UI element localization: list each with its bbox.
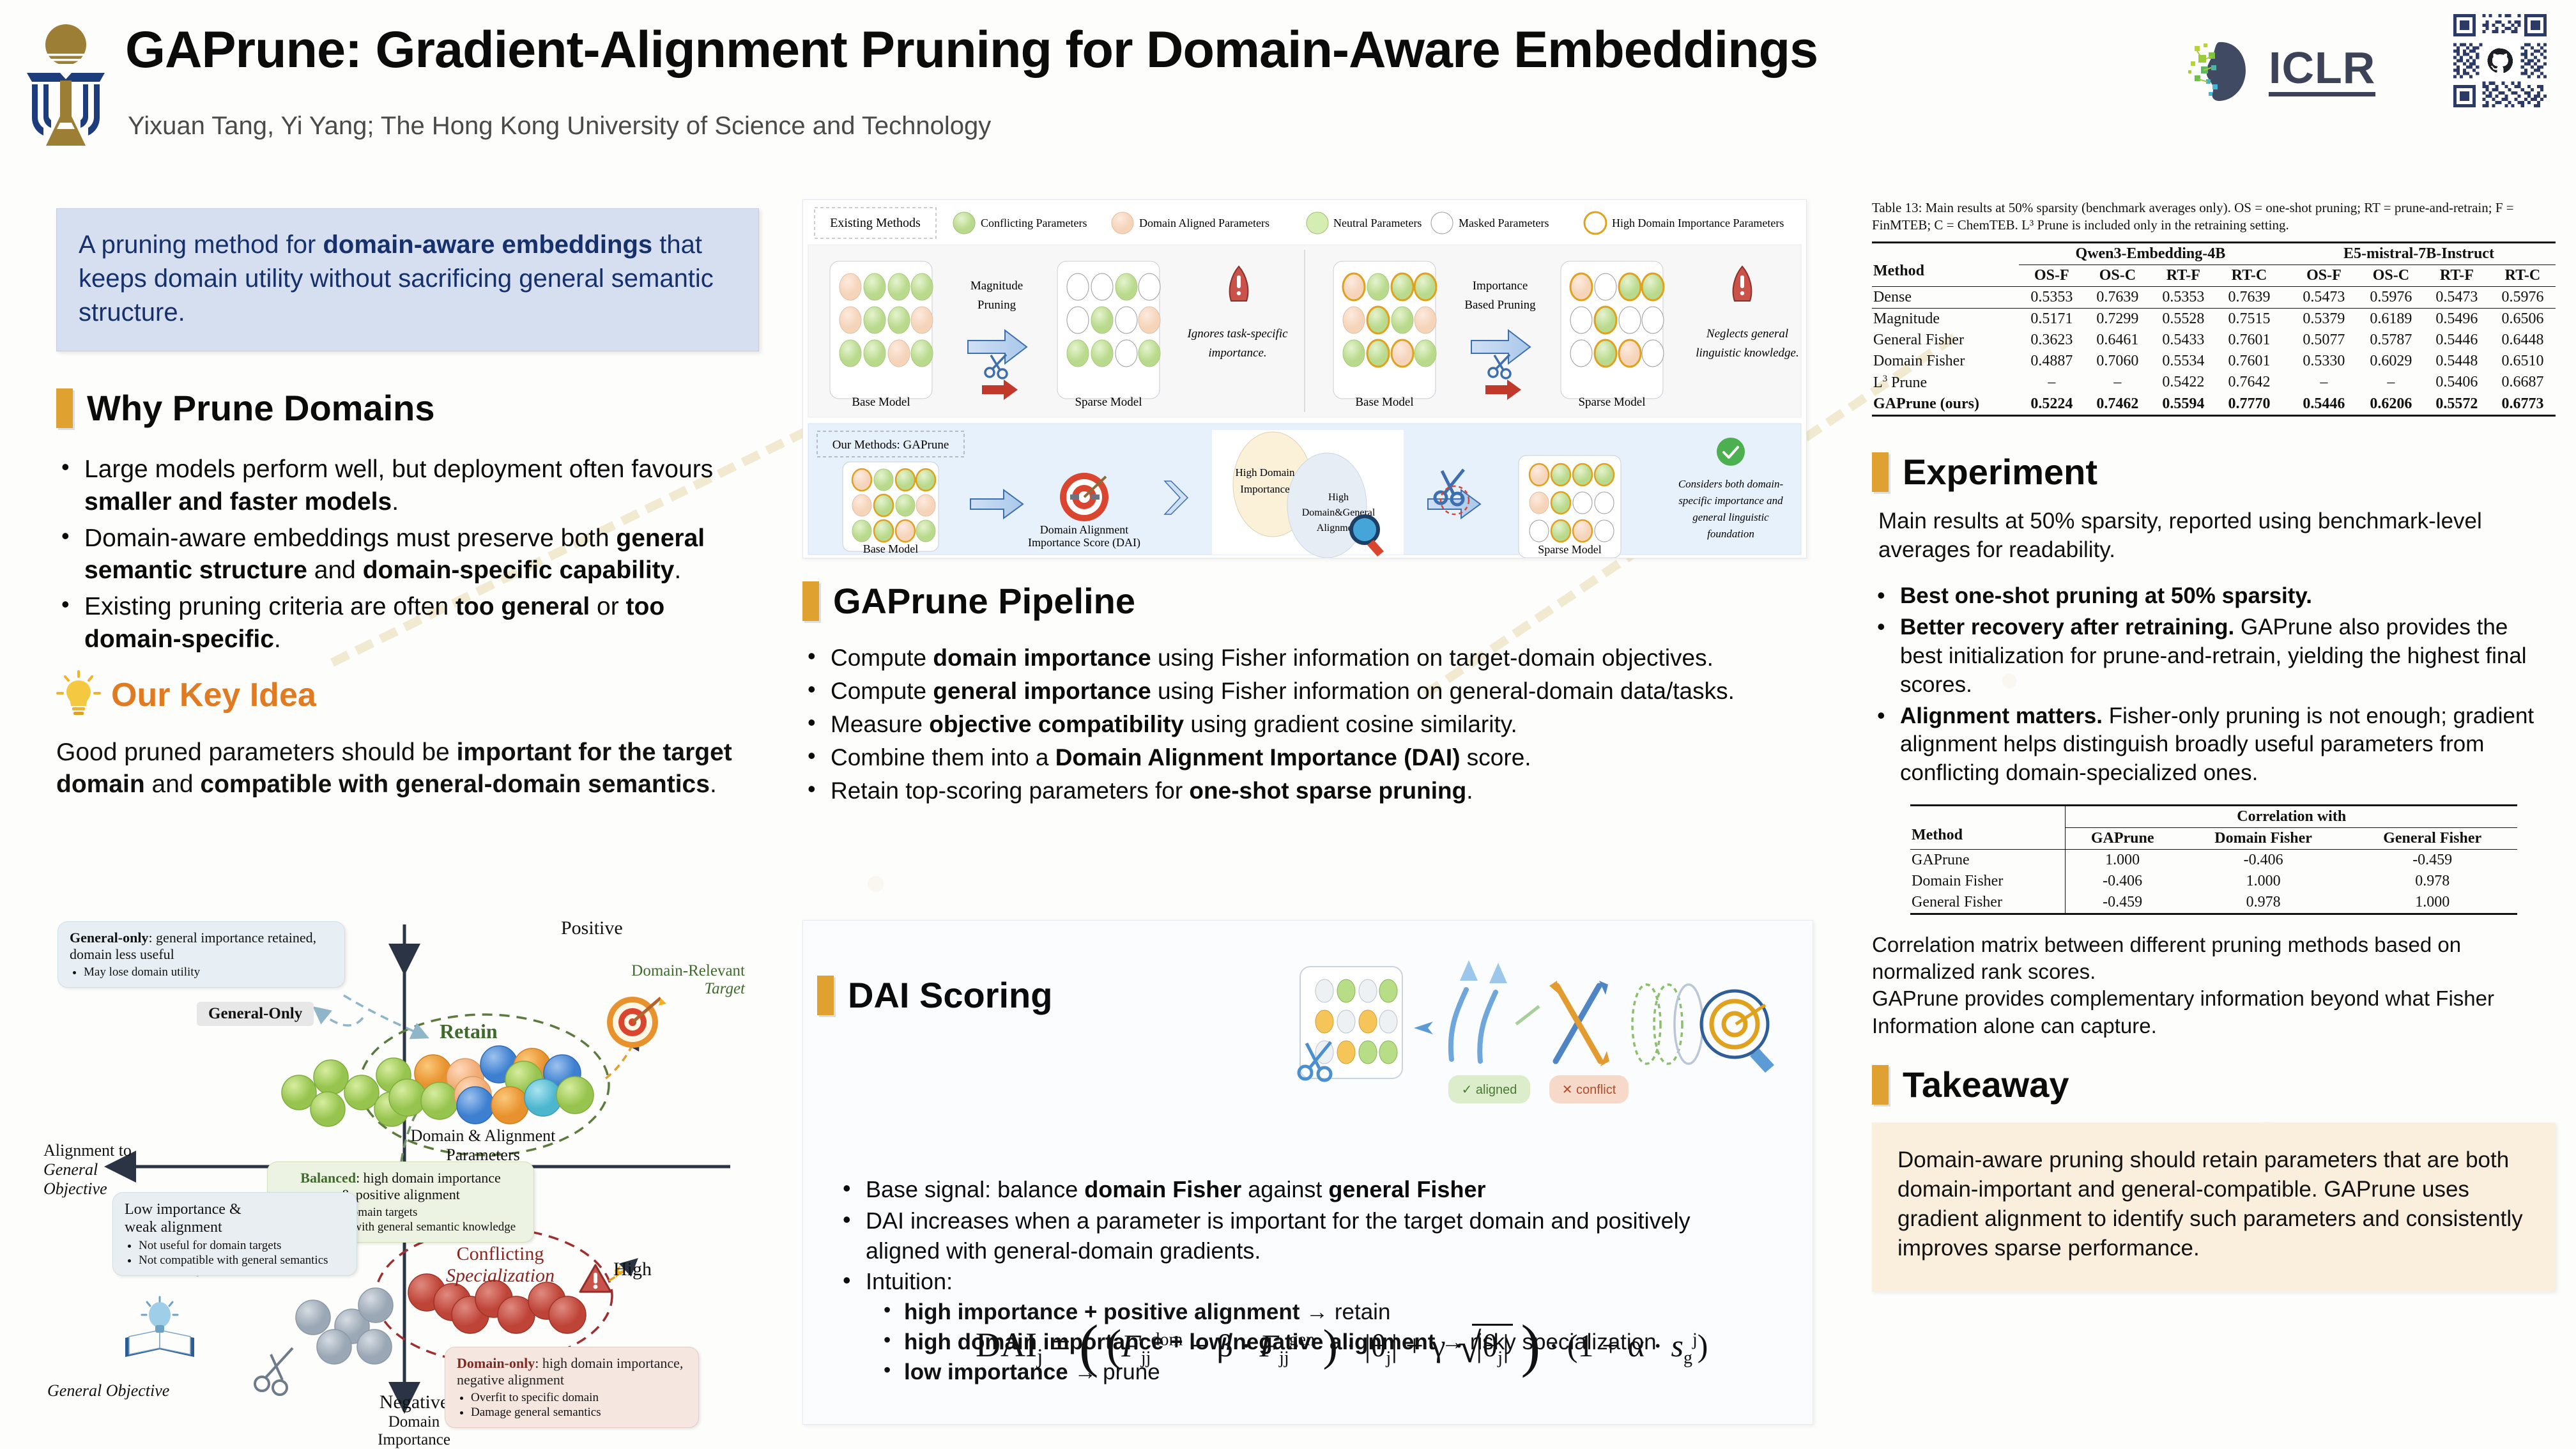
svg-text:✕ conflict: ✕ conflict: [1562, 1083, 1616, 1097]
list-item: Measure objective compatibility using gr…: [802, 709, 1825, 740]
table13-col-1: OS-C: [2085, 264, 2150, 286]
chip-general-only: General-Only: [197, 1002, 314, 1026]
row-method: GAPrune: [1910, 849, 2066, 871]
takeaway-callout: Domain-aware pruning should retain param…: [1872, 1123, 2556, 1292]
center-column: GAPrune Pipeline Compute domain importan…: [802, 581, 1825, 809]
svg-text:Based Pruning: Based Pruning: [1464, 298, 1536, 312]
table13-col-6: RT-F: [2424, 264, 2490, 286]
cell-value: 0.5496: [2424, 308, 2490, 330]
list-item: Overfit to specific domain: [471, 1390, 687, 1405]
domain-only-title: Domain-only: [457, 1355, 535, 1371]
row-method: Magnitude: [1872, 308, 2019, 330]
cell-value: 0.7299: [2085, 308, 2150, 330]
domain-relevant-1: Domain-Relevant: [611, 962, 745, 980]
section-title-takeaway: Takeaway: [1903, 1067, 2069, 1103]
corr-col-1: Domain Fisher: [2179, 827, 2348, 849]
table-row: General Fisher-0.4590.9781.000: [1910, 892, 2517, 914]
accent-bar-icon: [1872, 452, 1889, 492]
cell-value: 0.5077: [2282, 330, 2358, 351]
cell-value: 0.5473: [2282, 286, 2358, 308]
abstract-callout: A pruning method for domain-aware embedd…: [56, 208, 759, 351]
section-head-key-idea: Our Key Idea: [56, 670, 759, 720]
low-title-2: weak alignment: [125, 1218, 345, 1236]
why-prune-bullets: Large models perform well, but deploymen…: [56, 454, 759, 655]
svg-text:importance.: importance.: [1208, 346, 1266, 360]
cell-value: –: [2019, 372, 2085, 394]
cell-value: 0.6448: [2490, 330, 2556, 351]
poster-header: GAPrune: Gradient-Alignment Pruning for …: [0, 0, 2576, 172]
hkust-logo: [18, 14, 114, 151]
cell-value: 0.5422: [2150, 372, 2216, 394]
section-head-why-prune: Why Prune Domains: [56, 388, 759, 428]
cell-value: 0.5353: [2019, 286, 2085, 308]
table13-col-2: RT-F: [2150, 264, 2216, 286]
dai-scoring-card: DAI Scoring ✓ ali: [802, 920, 1813, 1425]
cell-value: 0.5224: [2019, 394, 2085, 416]
abstract-bold: domain-aware embeddings: [323, 231, 652, 259]
lightbulb-icon: [56, 670, 101, 720]
list-item: Intuition:: [838, 1267, 1770, 1297]
cell-value: 0.7060: [2085, 351, 2150, 372]
left-column: A pruning method for domain-aware embedd…: [56, 208, 759, 801]
table-row: General Fisher0.36230.64610.54330.76010.…: [1872, 330, 2556, 351]
dai-formula: DAIj = ( (Fjjdom − β · Fjjgen ) · |θj| +…: [976, 1312, 1708, 1379]
table13-col-5: OS-C: [2358, 264, 2424, 286]
quadrant-box-domain-only: Domain-only: high domain importance, neg…: [445, 1347, 699, 1428]
svg-text:Importance: Importance: [1240, 483, 1289, 495]
dai-illustration-icon: ✓ aligned ✕ conflict: [1289, 947, 1774, 1139]
svg-text:Considers both domain-: Considers both domain-: [1678, 478, 1784, 490]
experiment-bullets: Best one-shot pruning at 50% sparsity.Be…: [1872, 582, 2556, 788]
cell-value: 0.7601: [2216, 330, 2282, 351]
cell-value: -0.459: [2066, 892, 2179, 914]
quadrant-box-general-only: General-only: general importance retaine…: [57, 921, 345, 988]
svg-text:Neutral Parameters: Neutral Parameters: [1333, 217, 1422, 229]
list-item: Damage general semantics: [471, 1405, 687, 1420]
cell-value: 0.5473: [2424, 286, 2490, 308]
svg-text:Existing Methods: Existing Methods: [830, 216, 921, 230]
svg-text:specific importance and: specific importance and: [1678, 494, 1783, 507]
cell-value: 0.978: [2179, 892, 2348, 914]
quadrant-figure: General-only: general importance retaine…: [43, 906, 759, 1436]
cell-value: 0.5330: [2282, 351, 2358, 372]
page-title: GAPrune: Gradient-Alignment Pruning for …: [125, 24, 1818, 76]
cell-value: 0.7770: [2216, 394, 2282, 416]
corr-span-header: Correlation with: [2066, 805, 2517, 827]
cell-value: -0.406: [2179, 849, 2348, 871]
cell-value: 0.5379: [2282, 308, 2358, 330]
cell-value: 0.5787: [2358, 330, 2424, 351]
balanced-title: Balanced: [300, 1170, 356, 1186]
row-method: Domain Fisher: [1872, 351, 2019, 372]
axis-label-positive: Positive: [561, 917, 623, 939]
cell-value: 0.6206: [2358, 394, 2424, 416]
iclr-wordmark: ICLR: [2269, 47, 2375, 96]
domain-relevant-2: Target: [611, 980, 745, 998]
cell-value: 0.7642: [2216, 372, 2282, 394]
svg-text:Domain Alignment: Domain Alignment: [1040, 523, 1129, 536]
methods-figure-svg: Existing Methods Conflicting Parameters …: [803, 200, 1806, 558]
row-method: GAPrune (ours): [1872, 394, 2019, 416]
table13-group-2: E5-mistral-7B-Instruct: [2282, 242, 2556, 264]
table13-col-4: OS-F: [2282, 264, 2358, 286]
list-item: Combine them into a Domain Alignment Imp…: [802, 742, 1825, 773]
cell-value: 0.5446: [2424, 330, 2490, 351]
label-conflicting: Conflicting Specialization: [420, 1243, 580, 1287]
experiment-intro: Main results at 50% sparsity, reported u…: [1872, 507, 2556, 565]
list-item: Compute domain importance using Fisher i…: [802, 643, 1825, 673]
corr-body: GAPrune1.000-0.406-0.459Domain Fisher-0.…: [1910, 849, 2517, 914]
cell-value: 0.6506: [2490, 308, 2556, 330]
svg-text:Base Model: Base Model: [863, 542, 918, 555]
svg-text:Our Methods: GAPrune: Our Methods: GAPrune: [832, 438, 949, 452]
cell-value: 0.5353: [2150, 286, 2216, 308]
svg-text:Base Model: Base Model: [852, 395, 910, 409]
label-domain-relevant-target: Domain-Relevant Target: [611, 962, 745, 998]
cell-value: 0.6029: [2358, 351, 2424, 372]
cell-value: 0.5446: [2282, 394, 2358, 416]
svg-text:linguistic knowledge.: linguistic knowledge.: [1696, 346, 1798, 360]
svg-text:Conflicting Parameters: Conflicting Parameters: [981, 217, 1087, 229]
iclr-logo: ICLR: [2182, 37, 2375, 106]
row-method: Dense: [1872, 286, 2019, 308]
cell-value: 0.5976: [2358, 286, 2424, 308]
authors-affiliation: Yixuan Tang, Yi Yang; The Hong Kong Univ…: [128, 112, 991, 141]
list-item: Large models perform well, but deploymen…: [56, 454, 759, 518]
cell-value: 0.7639: [2216, 286, 2282, 308]
label-retain-sub: Domain & Alignment Parameters: [406, 1126, 560, 1165]
cell-value: –: [2358, 372, 2424, 394]
table13-col-7: RT-C: [2490, 264, 2556, 286]
table13-group-1: Qwen3-Embedding-4B: [2019, 242, 2282, 264]
svg-text:general linguistic: general linguistic: [1692, 511, 1769, 523]
svg-text:Sparse Model: Sparse Model: [1075, 395, 1142, 409]
cell-value: 0.5433: [2150, 330, 2216, 351]
cell-value: 0.5572: [2424, 394, 2490, 416]
list-item: Better recovery after retraining. GAPrun…: [1872, 613, 2556, 699]
cell-value: 0.978: [2347, 871, 2517, 892]
accent-bar-icon: [1872, 1065, 1889, 1105]
section-title-pipeline: GAPrune Pipeline: [833, 583, 1135, 619]
list-item: Not useful for domain targets: [139, 1238, 345, 1253]
accent-bar-icon: [56, 388, 73, 428]
section-head-experiment: Experiment: [1872, 452, 2556, 492]
svg-text:Sparse Model: Sparse Model: [1578, 395, 1645, 409]
abstract-lead: A pruning method for: [79, 231, 323, 259]
svg-text:High: High: [1328, 492, 1349, 503]
general-only-title: General-only: [70, 930, 148, 946]
domain-only-bullets: Overfit to specific domain Damage genera…: [457, 1390, 687, 1420]
cell-value: 0.6510: [2490, 351, 2556, 372]
section-title-why-prune: Why Prune Domains: [87, 390, 435, 426]
low-bullets: Not useful for domain targets Not compat…: [125, 1238, 345, 1268]
cell-value: 1.000: [2179, 871, 2348, 892]
svg-text:High Domain Importance Paramet: High Domain Importance Parameters: [1612, 217, 1784, 229]
table13-col-0: OS-F: [2019, 264, 2085, 286]
cell-value: 0.5528: [2150, 308, 2216, 330]
list-item: Alignment matters. Fisher-only pruning i…: [1872, 702, 2556, 788]
main-results-table: Method Qwen3-Embedding-4B E5-mistral-7B-…: [1872, 241, 2556, 417]
cell-value: 0.6461: [2085, 330, 2150, 351]
corr-method-header: Method: [1910, 805, 2066, 849]
cell-value: 1.000: [2066, 849, 2179, 871]
cell-value: 0.6687: [2490, 372, 2556, 394]
section-title-dai: DAI Scoring: [848, 977, 1052, 1013]
table-row: L3 Prune––0.54220.7642––0.54060.6687: [1872, 372, 2556, 394]
dai-bullets: Base signal: balance domain Fisher again…: [838, 1175, 1770, 1297]
list-item: Existing pruning criteria are often too …: [56, 591, 759, 655]
accent-bar-icon: [802, 581, 819, 621]
cell-value: –: [2282, 372, 2358, 394]
cell-value: 0.7639: [2085, 286, 2150, 308]
right-column: Table 13: Main results at 50% sparsity (…: [1872, 199, 2556, 1292]
list-item: Base signal: balance domain Fisher again…: [838, 1175, 1770, 1205]
list-item: May lose domain utility: [84, 965, 333, 979]
quadrant-box-low-importance: Low importance & weak alignment Not usef…: [112, 1192, 357, 1276]
corr-col-0: GAPrune: [2066, 827, 2179, 849]
conflicting-2: Specialization: [420, 1265, 580, 1287]
cell-value: 1.000: [2347, 892, 2517, 914]
axis-align-1: Alignment to: [43, 1141, 152, 1160]
axis-label-high: High: [613, 1259, 652, 1280]
accent-bar-icon: [817, 976, 834, 1015]
cell-value: 0.6773: [2490, 394, 2556, 416]
svg-text:foundation: foundation: [1707, 528, 1754, 540]
cell-value: 0.7515: [2216, 308, 2282, 330]
takeaway-text: Domain-aware pruning should retain param…: [1897, 1146, 2530, 1264]
cell-value: 0.5534: [2150, 351, 2216, 372]
svg-text:Importance Score (DAI): Importance Score (DAI): [1028, 536, 1140, 549]
section-head-pipeline: GAPrune Pipeline: [802, 581, 1825, 621]
correlation-caption: Correlation matrix between different pru…: [1872, 931, 2556, 1039]
low-title-1: Low importance &: [125, 1200, 345, 1218]
svg-text:Neglects general: Neglects general: [1706, 327, 1788, 341]
cell-value: 0.6189: [2358, 308, 2424, 330]
list-item: DAI increases when a parameter is import…: [838, 1206, 1770, 1266]
cell-value: 0.5976: [2490, 286, 2556, 308]
row-method: Domain Fisher: [1910, 871, 2066, 892]
github-qr-code-icon[interactable]: [2453, 14, 2547, 107]
svg-text:✓ aligned: ✓ aligned: [1462, 1083, 1517, 1097]
table-row: Dense0.53530.76390.53530.76390.54730.597…: [1872, 286, 2556, 308]
cell-value: 0.5448: [2424, 351, 2490, 372]
label-general-objective: General Objective: [47, 1381, 169, 1400]
svg-text:Importance: Importance: [1473, 279, 1528, 293]
table13-col-3: RT-C: [2216, 264, 2282, 286]
general-only-bullets: May lose domain utility: [70, 965, 333, 979]
abstract-text: A pruning method for domain-aware embedd…: [79, 228, 737, 329]
list-item: Compute general importance using Fisher …: [802, 676, 1825, 707]
list-item: Best one-shot pruning at 50% sparsity.: [1872, 582, 2556, 611]
svg-text:Pruning: Pruning: [977, 298, 1016, 312]
svg-text:High Domain: High Domain: [1235, 466, 1295, 479]
methods-overview-figure: Existing Methods Conflicting Parameters …: [802, 199, 1807, 558]
label-retain: Retain: [440, 1020, 498, 1043]
axis-label-alignment: Alignment to General Objective: [43, 1141, 152, 1199]
cell-value: 0.5171: [2019, 308, 2085, 330]
pipeline-bullets: Compute domain importance using Fisher i…: [802, 643, 1825, 806]
key-idea-text: Good pruned parameters should be importa…: [56, 737, 759, 801]
svg-text:Domain Aligned Parameters: Domain Aligned Parameters: [1139, 217, 1269, 229]
svg-text:Sparse Model: Sparse Model: [1538, 543, 1601, 556]
cell-value: -0.406: [2066, 871, 2179, 892]
svg-text:Magnitude: Magnitude: [970, 279, 1023, 293]
corr-col-2: General Fisher: [2347, 827, 2517, 849]
section-head-takeaway: Takeaway: [1872, 1065, 2556, 1105]
cell-value: 0.5594: [2150, 394, 2216, 416]
cell-value: 0.7601: [2216, 351, 2282, 372]
list-item: Not compatible with general semantics: [139, 1253, 345, 1268]
table-row: Domain Fisher0.48870.70600.55340.76010.5…: [1872, 351, 2556, 372]
list-item: Domain-aware embeddings must preserve bo…: [56, 523, 759, 587]
table13-body: Dense0.53530.76390.53530.76390.54730.597…: [1872, 286, 2556, 415]
correlation-matrix-table: Method Correlation with GAPruneDomain Fi…: [1910, 804, 2517, 915]
cell-value: 0.4887: [2019, 351, 2085, 372]
table-row: Magnitude0.51710.72990.55280.75150.53790…: [1872, 308, 2556, 330]
row-method: General Fisher: [1910, 892, 2066, 914]
table-row: GAPrune1.000-0.406-0.459: [1910, 849, 2517, 871]
cell-value: 0.5406: [2424, 372, 2490, 394]
cell-value: –: [2085, 372, 2150, 394]
table13-caption: Table 13: Main results at 50% sparsity (…: [1872, 199, 2556, 234]
svg-text:Masked Parameters: Masked Parameters: [1459, 217, 1549, 229]
table13-method-header: Method: [1872, 242, 2019, 286]
row-method: L3 Prune: [1872, 372, 2019, 394]
balanced-rest: : high domain importance: [356, 1170, 501, 1186]
table-row: GAPrune (ours)0.52240.74620.55940.77700.…: [1872, 394, 2556, 416]
row-method: General Fisher: [1872, 330, 2019, 351]
cell-value: -0.459: [2347, 849, 2517, 871]
svg-text:Base Model: Base Model: [1355, 395, 1413, 409]
list-item: Retain top-scoring parameters for one-sh…: [802, 776, 1825, 806]
cell-value: 0.7462: [2085, 394, 2150, 416]
section-title-key-idea: Our Key Idea: [111, 678, 316, 712]
correlation-table-wrap: Method Correlation with GAPruneDomain Fi…: [1872, 804, 2556, 915]
iclr-head-icon: [2182, 37, 2252, 106]
svg-text:Ignores task-specific: Ignores task-specific: [1186, 327, 1288, 341]
conflicting-1: Conflicting: [420, 1243, 580, 1265]
section-title-experiment: Experiment: [1903, 454, 2097, 490]
retain-sub-1: Domain & Alignment: [406, 1126, 560, 1146]
cell-value: 0.3623: [2019, 330, 2085, 351]
table-row: Domain Fisher-0.4061.0000.978: [1910, 871, 2517, 892]
